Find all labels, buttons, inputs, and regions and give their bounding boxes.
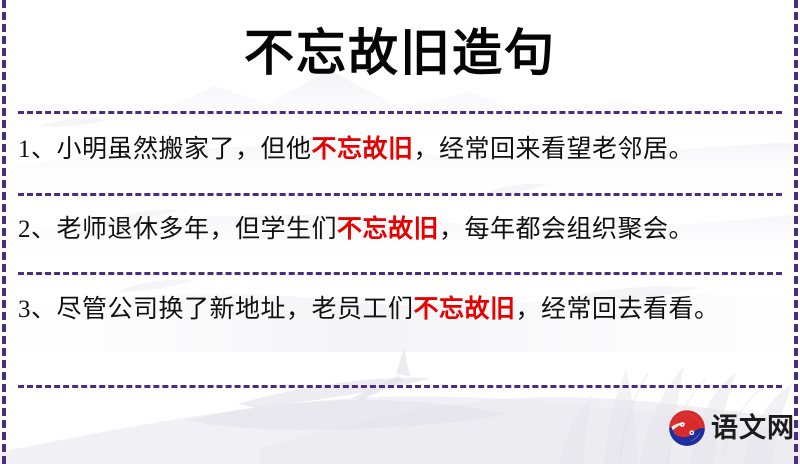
divider-after-sentence-1 — [18, 193, 782, 196]
divider-below-title — [18, 111, 782, 114]
divider-after-sentence-3 — [18, 385, 782, 388]
sentence-3-before: 尽管公司换了新地址，老员工们 — [57, 296, 414, 323]
yin-yang-fish-circle-icon — [668, 409, 706, 447]
site-logo-text: 语文网 — [711, 413, 795, 443]
example-sentence-2: 2、老师退休多年，但学生们不忘故旧，每年都会组织聚会。 — [18, 208, 778, 252]
sentence-2-keyword: 不忘故旧 — [337, 216, 439, 243]
sentence-1-keyword: 不忘故旧 — [312, 136, 414, 163]
sentence-1-before: 小明虽然搬家了，但他 — [57, 136, 312, 163]
sentence-2-index: 2、 — [18, 216, 57, 243]
site-logo[interactable]: 语文网 — [668, 406, 794, 450]
sentence-2-after: ，每年都会组织聚会。 — [439, 216, 694, 243]
sentence-2-before: 老师退休多年，但学生们 — [57, 216, 338, 243]
example-sentence-1: 1、小明虽然搬家了，但他不忘故旧，经常回来看望老邻居。 — [18, 128, 778, 172]
page-title: 不忘故旧造句 — [0, 22, 800, 84]
example-sentence-3: 3、尽管公司换了新地址，老员工们不忘故旧，经常回去看看。 — [18, 288, 778, 332]
sentence-1-after: ，经常回来看望老邻居。 — [414, 136, 695, 163]
worksheet-page: 不忘故旧造句 1、小明虽然搬家了，但他不忘故旧，经常回来看望老邻居。 2、老师退… — [0, 0, 800, 464]
sentence-1-index: 1、 — [18, 136, 57, 163]
sentence-3-after: ，经常回去看看。 — [516, 296, 720, 323]
divider-after-sentence-2 — [18, 272, 782, 275]
sentence-3-keyword: 不忘故旧 — [414, 296, 516, 323]
sentence-3-index: 3、 — [18, 296, 57, 323]
